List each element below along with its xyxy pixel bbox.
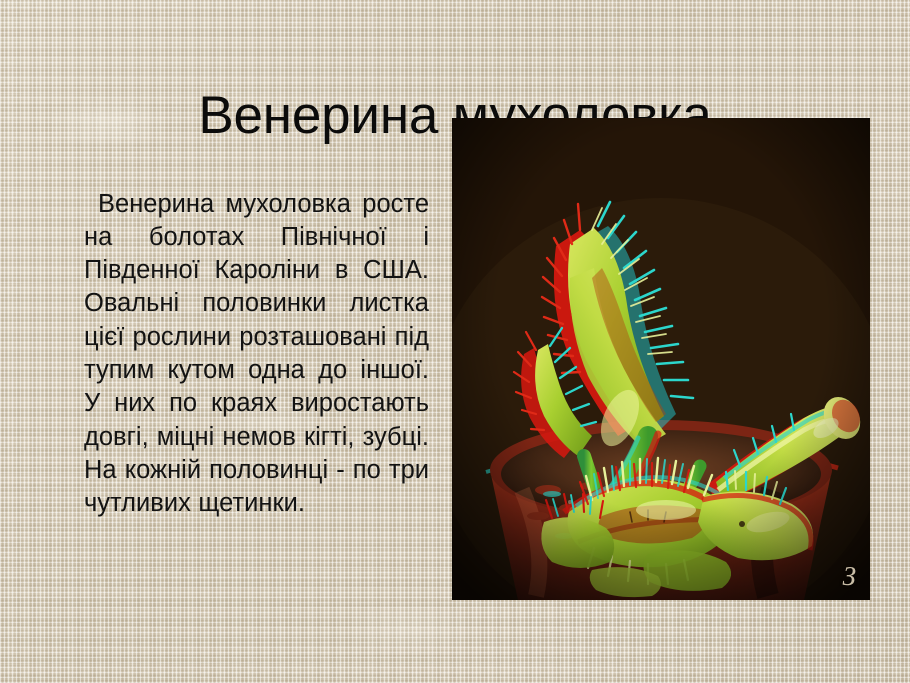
slide-canvas: Венерина мухоловка Венерина мухоловка ро… xyxy=(0,0,910,683)
flytrap-illustration xyxy=(452,118,870,600)
flytrap-photo: З xyxy=(452,118,870,600)
photo-signature: З xyxy=(843,563,856,590)
body-paragraph: Венерина мухоловка росте на болотах Півн… xyxy=(84,188,429,521)
